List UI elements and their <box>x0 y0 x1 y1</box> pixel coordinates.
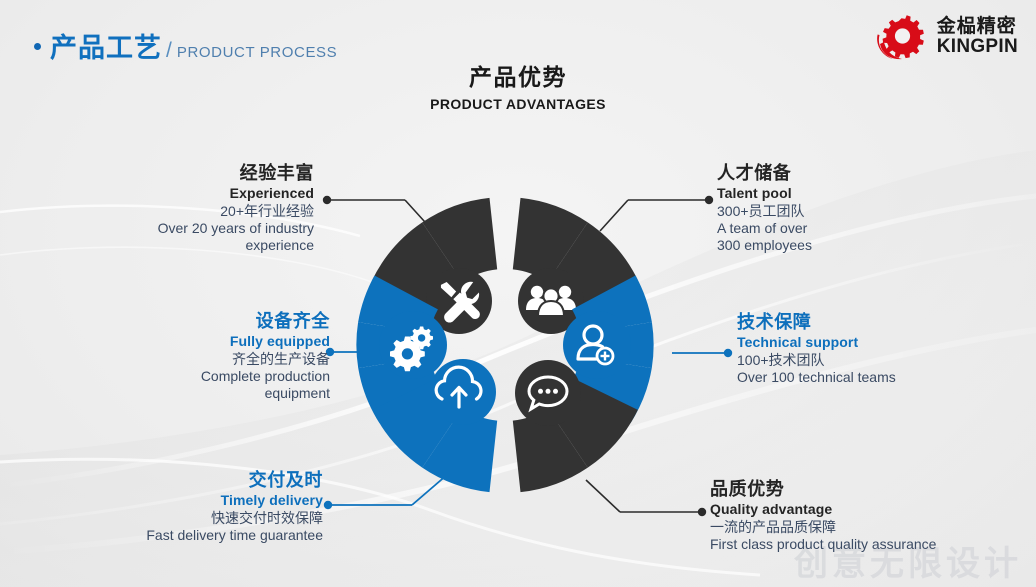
label-fully-equipped-cn-desc: 齐全的生产设备 <box>201 351 330 368</box>
advantages-donut-chart <box>355 195 655 495</box>
label-experienced-cn-desc: 20+年行业经验 <box>158 203 314 220</box>
label-talent-pool: 人才储备 Talent pool 300+员工团队 A team of over… <box>717 163 812 254</box>
label-timely-delivery-cn-title: 交付及时 <box>146 470 323 492</box>
label-fully-equipped-cn-title: 设备齐全 <box>201 311 330 333</box>
label-experienced: 经验丰富 Experienced 20+年行业经验 Over 20 years … <box>158 163 314 254</box>
label-quality-advantage-cn-title: 品质优势 <box>710 479 936 501</box>
label-experienced-en-desc-1: Over 20 years of industry <box>158 220 314 237</box>
label-timely-delivery-en-title: Timely delivery <box>146 492 323 509</box>
label-talent-pool-en-title: Talent pool <box>717 185 812 202</box>
label-technical-support-en-title: Technical support <box>737 334 896 351</box>
page-title: 产品优势 PRODUCT ADVANTAGES <box>0 58 1036 112</box>
slide-canvas: 产品工艺 / PRODUCT PROCESS 金榀精密 KINGPIN 产品优势… <box>0 0 1036 587</box>
label-talent-pool-en-desc-2: 300 employees <box>717 237 812 254</box>
company-logo: 金榀精密 KINGPIN <box>874 14 1018 60</box>
label-technical-support-cn-title: 技术保障 <box>737 312 896 334</box>
logo-name-en: KINGPIN <box>937 37 1018 57</box>
label-technical-support-en-desc-1: Over 100 technical teams <box>737 369 896 386</box>
logo-name-cn: 金榀精密 <box>937 17 1018 37</box>
page-title-en: PRODUCT ADVANTAGES <box>0 96 1036 112</box>
label-talent-pool-en-desc-1: A team of over <box>717 220 812 237</box>
label-timely-delivery: 交付及时 Timely delivery 快速交付时效保障 Fast deliv… <box>146 470 323 544</box>
page-title-cn: 产品优势 <box>0 58 1036 92</box>
logo-text-block: 金榀精密 KINGPIN <box>937 17 1018 57</box>
label-fully-equipped-en-desc-1: Complete production <box>201 368 330 385</box>
header-bullet-icon <box>34 43 41 50</box>
connector-technical-support <box>672 349 732 357</box>
label-experienced-en-title: Experienced <box>158 185 314 202</box>
label-experienced-en-desc-2: experience <box>158 237 314 254</box>
label-fully-equipped-en-title: Fully equipped <box>201 333 330 350</box>
label-technical-support-cn-desc: 100+技术团队 <box>737 352 896 369</box>
label-talent-pool-cn-desc: 300+员工团队 <box>717 203 812 220</box>
label-experienced-cn-title: 经验丰富 <box>158 163 314 185</box>
label-talent-pool-cn-title: 人才储备 <box>717 163 812 185</box>
label-quality-advantage-en-title: Quality advantage <box>710 501 936 518</box>
label-quality-advantage-cn-desc: 一流的产品品质保障 <box>710 519 936 536</box>
label-timely-delivery-en-desc-1: Fast delivery time guarantee <box>146 527 323 544</box>
label-fully-equipped: 设备齐全 Fully equipped 齐全的生产设备 Complete pro… <box>201 311 330 402</box>
label-fully-equipped-en-desc-2: equipment <box>201 385 330 402</box>
watermark: 创意无限设计 <box>794 536 1022 585</box>
gear-logo-icon <box>874 14 928 60</box>
label-timely-delivery-cn-desc: 快速交付时效保障 <box>146 510 323 527</box>
label-technical-support: 技术保障 Technical support 100+技术团队 Over 100… <box>737 312 896 386</box>
